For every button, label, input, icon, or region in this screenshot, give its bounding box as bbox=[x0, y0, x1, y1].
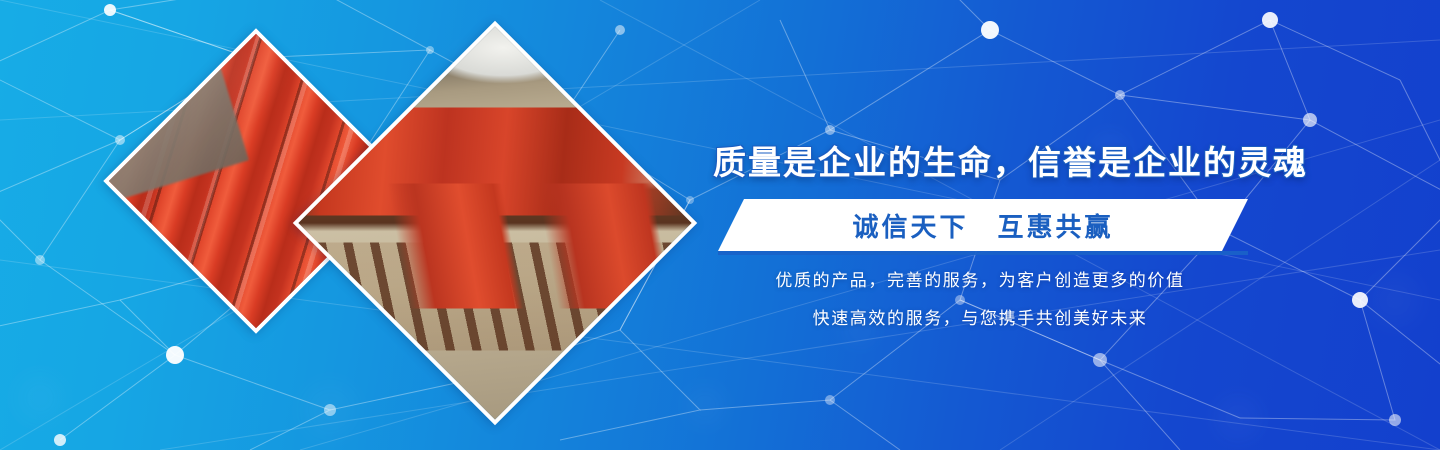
ribbon-slogan-text: 诚信天下 互惠共赢 bbox=[718, 199, 1248, 251]
ribbon-underline bbox=[718, 251, 1248, 255]
subcopy-line-1: 优质的产品，完善的服务，为客户创造更多的价值 bbox=[700, 262, 1260, 300]
subcopy-line-2: 快速高效的服务，与您携手共创美好未来 bbox=[700, 300, 1260, 338]
slogan-ribbon: 诚信天下 互惠共赢 bbox=[718, 199, 1248, 251]
banner-subcopy: 优质的产品，完善的服务，为客户创造更多的价值 快速高效的服务，与您携手共创美好未… bbox=[700, 262, 1260, 338]
banner-headline: 质量是企业的生命，信誉是企业的灵魂 bbox=[713, 136, 1253, 184]
promo-banner: 质量是企业的生命，信誉是企业的灵魂 诚信天下 互惠共赢 优质的产品，完善的服务，… bbox=[0, 0, 1440, 450]
